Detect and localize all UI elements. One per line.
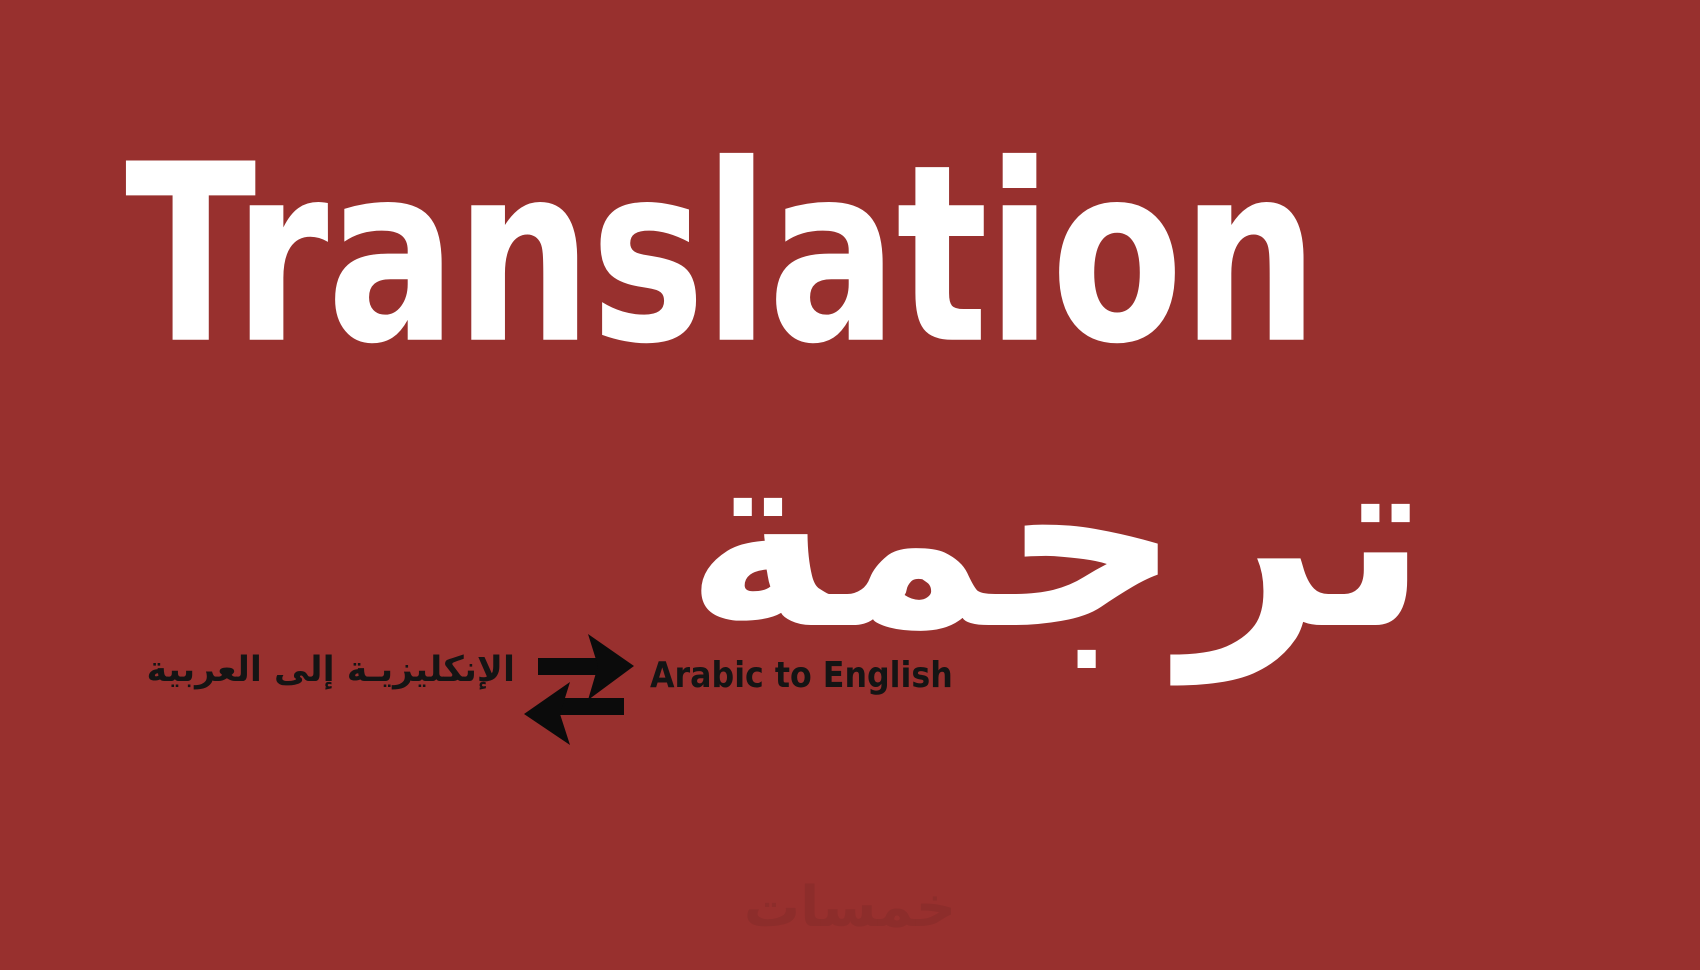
double-arrow-swap-icon xyxy=(524,620,634,745)
translation-banner: Translation ترجمة الإنكليزيـة إلى العربي… xyxy=(0,0,1700,970)
double-arrow-swap-icon-glyph xyxy=(524,620,634,745)
language-pair-row: الإنكليزيـة إلى العربية Arabic to Englis… xyxy=(0,612,1700,772)
language-label-english-direction: Arabic to English xyxy=(650,654,953,697)
watermark-khamsat: خمسات xyxy=(0,880,1700,936)
page-title-english: Translation xyxy=(125,132,1317,378)
language-label-arabic-direction: الإنكليزيـة إلى العربية xyxy=(190,648,515,694)
